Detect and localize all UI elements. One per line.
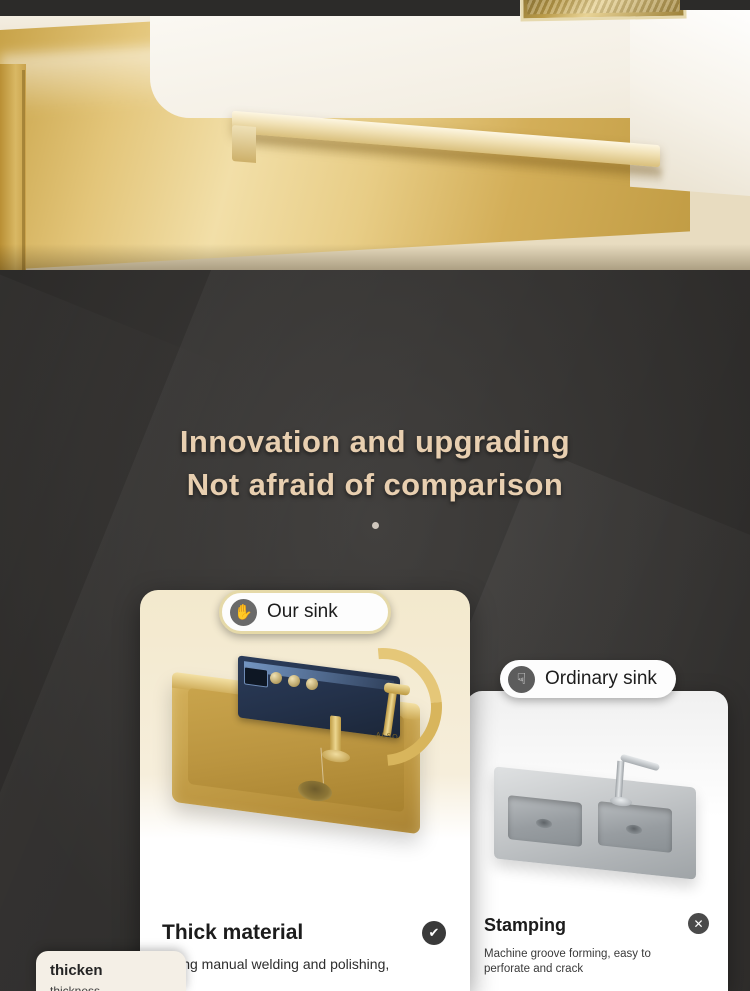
thicken-card[interactable]: thicken thickness [36, 951, 186, 991]
sink-knob-1 [270, 672, 282, 684]
pager-dot[interactable] [372, 522, 379, 529]
hero-photo [0, 0, 750, 270]
ordinary-card-description: Machine groove forming, easy to perforat… [484, 947, 684, 977]
top-dark-band-right [680, 0, 750, 10]
our-card-title: Thick material [162, 921, 303, 945]
thicken-card-title: thicken [50, 962, 103, 979]
close-icon: ✕ [688, 913, 709, 934]
thicken-card-subtitle: thickness [50, 984, 100, 991]
cabinet-seam [22, 70, 25, 270]
thumbs-up-icon: ✋ [230, 599, 257, 626]
thumbs-down-icon: ☟ [508, 666, 535, 693]
our-sink-badge[interactable]: ✋ Our sink [219, 590, 391, 634]
wall-art-panel [519, 0, 686, 21]
headline-line-2: Not afraid of comparison [0, 463, 750, 506]
top-dark-band [0, 0, 520, 16]
sink-knob-2 [288, 675, 300, 687]
our-sink-badge-label: Our sink [267, 601, 338, 623]
ordinary-sink-image [494, 763, 700, 883]
headline-line-1: Innovation and upgrading [180, 424, 570, 459]
product-detail-page: Innovation and upgrading Not afraid of c… [0, 0, 750, 991]
sink-knob-3 [306, 678, 318, 690]
sink-display-screen [244, 666, 268, 687]
ordinary-sink-badge[interactable]: ☟ Ordinary sink [500, 660, 676, 698]
section-headline: Innovation and upgrading Not afraid of c… [0, 420, 750, 506]
our-sink-card[interactable]: ALSO Thick material Using manual welding… [140, 590, 470, 991]
ordinary-sink-card[interactable]: Stamping Machine groove forming, easy to… [466, 691, 728, 991]
check-icon: ✔ [422, 921, 446, 945]
ordinary-sink-badge-label: Ordinary sink [545, 668, 657, 690]
our-sink-image: ALSO [148, 638, 462, 858]
steel-faucet-arm [620, 754, 660, 772]
floor-shadow [0, 244, 750, 270]
ordinary-card-title: Stamping [484, 915, 566, 936]
cabinet-handle-cap [232, 125, 256, 163]
countertop-right-edge [630, 0, 750, 196]
carousel-pager[interactable] [0, 516, 750, 534]
our-card-description: Using manual welding and polishing, [162, 955, 434, 974]
